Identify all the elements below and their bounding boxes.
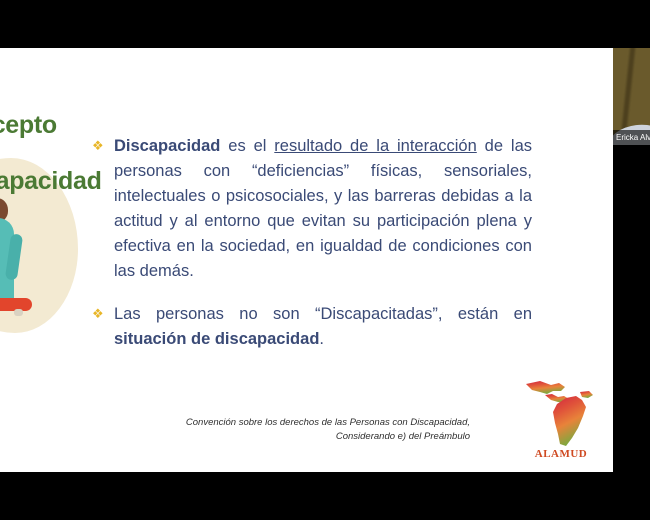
slide-citation: Convención sobre los derechos de las Per… bbox=[140, 416, 470, 444]
participant-name-label: Ericka Alv bbox=[613, 133, 650, 142]
slide-title-line-2: Discapacidad bbox=[0, 167, 74, 195]
citation-line-2: Considerando e) del Preámbulo bbox=[140, 430, 470, 444]
participant-name-bar: Ericka Alv bbox=[613, 130, 650, 145]
illustration-wheel-rear bbox=[14, 309, 23, 316]
alamud-logo: ALAMUD bbox=[520, 378, 602, 468]
bullet-seg-bold: Discapacidad bbox=[114, 137, 220, 155]
slide-title: Concepto de Discapacidad bbox=[0, 111, 74, 195]
letterbox-right-bar bbox=[613, 145, 650, 472]
participant-video-tile[interactable]: Ericka Alv bbox=[613, 48, 650, 145]
letterbox-top-bar bbox=[0, 0, 650, 48]
bullet-situacion-text: Las personas no son “Discapacitadas”, es… bbox=[114, 302, 532, 352]
list-item: ❖ Discapacidad es el resultado de la int… bbox=[92, 134, 532, 284]
citation-line-1: Convención sobre los derechos de las Per… bbox=[140, 416, 470, 430]
bullet-seg-plain-1: es el bbox=[220, 137, 274, 155]
bullet-seg-underline: resultado de la interacción bbox=[274, 137, 477, 155]
app-window: Concepto de Discapacidad ❖ Discapacidad … bbox=[0, 0, 650, 520]
alamud-wordmark: ALAMUD bbox=[520, 448, 602, 460]
latin-america-map-icon bbox=[520, 378, 602, 450]
letterbox-bottom-bar bbox=[0, 472, 650, 520]
diamond-bullet-icon: ❖ bbox=[92, 134, 114, 152]
bullet-seg-bold-2: situación de discapacidad bbox=[114, 330, 319, 348]
slide-body: ❖ Discapacidad es el resultado de la int… bbox=[92, 134, 532, 370]
bullet-definicion-text: Discapacidad es el resultado de la inter… bbox=[114, 134, 532, 284]
presentation-slide[interactable]: Concepto de Discapacidad ❖ Discapacidad … bbox=[0, 48, 613, 472]
bullet-seg-plain-3: Las personas no son “Discapacitadas”, es… bbox=[114, 305, 532, 323]
list-item: ❖ Las personas no son “Discapacitadas”, … bbox=[92, 302, 532, 352]
bullet-seg-period: . bbox=[319, 330, 324, 348]
diamond-bullet-icon: ❖ bbox=[92, 302, 114, 320]
bullet-seg-plain-2: de las personas con “deficiencias” físic… bbox=[114, 137, 532, 280]
slide-title-line-1: Concepto de bbox=[0, 111, 74, 167]
